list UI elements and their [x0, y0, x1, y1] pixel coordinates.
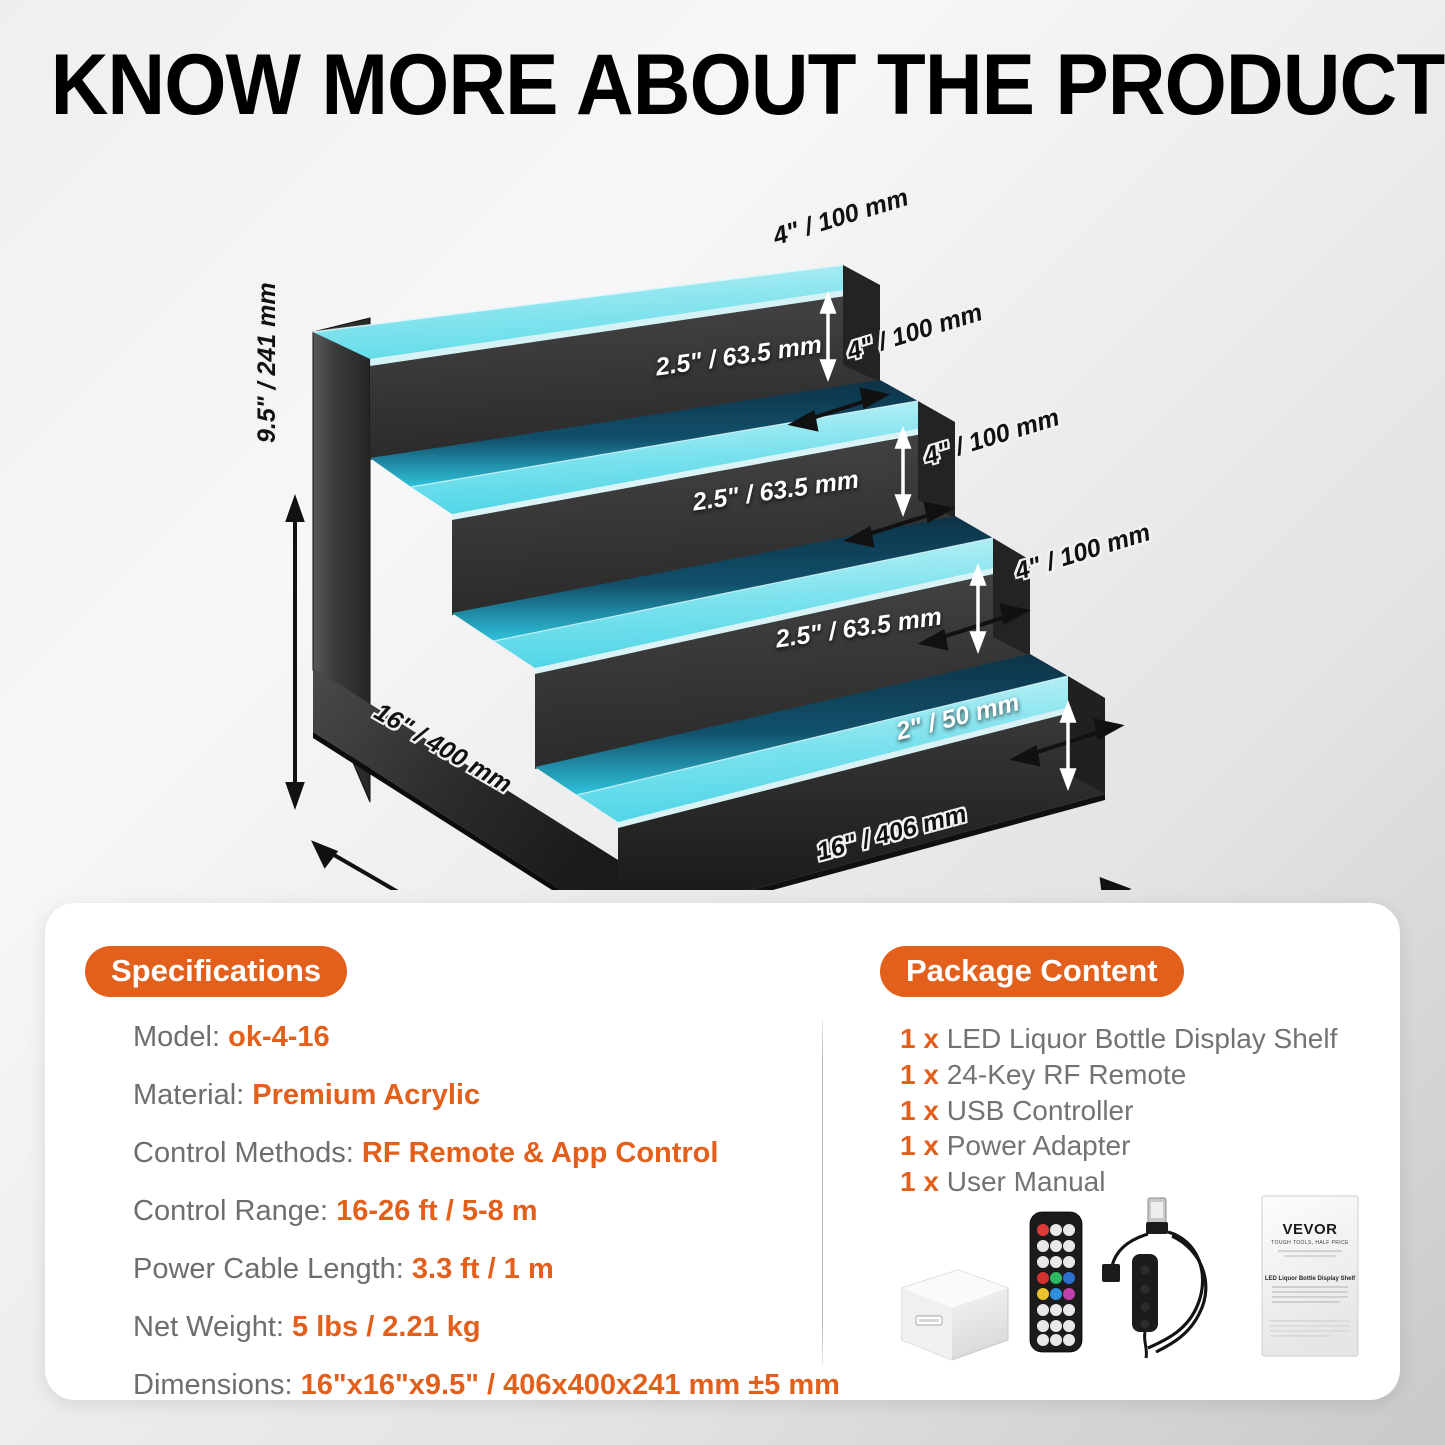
spec-value: Premium Acrylic [252, 1079, 480, 1111]
product-dimension-diagram: 9.5" / 241 mm 4" / 100 mm 4" / 100 mm 4"… [0, 160, 1445, 890]
spec-label: Power Cable Length: [133, 1253, 404, 1285]
spec-value: ok-4-16 [228, 1021, 330, 1053]
spec-row: Control Range: 16-26 ft / 5-8 m [133, 1197, 845, 1226]
accessory-photos: VEVOR TOUGH TOOLS, HALF PRICE LED Liquor… [880, 1188, 1380, 1368]
package-content-heading: Package Content [880, 946, 1184, 997]
info-card: Specifications Model: ok-4-16 Material: … [45, 903, 1400, 1400]
list-item: 1 x LED Liquor Bottle Display Shelf [900, 1021, 1370, 1057]
item-qty: 1 x [900, 1130, 939, 1161]
item-name: USB Controller [947, 1095, 1134, 1126]
spec-label: Control Methods: [133, 1137, 354, 1169]
spec-value: RF Remote & App Control [362, 1137, 719, 1169]
list-item: 1 x Power Adapter [900, 1128, 1370, 1164]
user-manual-photo: VEVOR TOUGH TOOLS, HALF PRICE LED Liquor… [1262, 1196, 1358, 1356]
spec-row: Dimensions: 16"x16"x9.5" / 406x400x241 m… [133, 1371, 845, 1400]
list-item: 1 x USB Controller [900, 1093, 1370, 1129]
spec-label: Dimensions: [133, 1369, 293, 1401]
package-content-panel: Package Content 1 x LED Liquor Bottle Di… [880, 946, 1370, 1200]
spec-value: 5 lbs / 2.21 kg [292, 1311, 481, 1343]
spec-row: Model: ok-4-16 [133, 1023, 845, 1052]
usb-controller-photo [1102, 1198, 1206, 1358]
spec-label: Net Weight: [133, 1311, 284, 1343]
panel-divider [822, 1020, 823, 1365]
spec-row: Control Methods: RF Remote & App Control [133, 1139, 845, 1168]
spec-value: 3.3 ft / 1 m [412, 1253, 554, 1285]
svg-text:VEVOR: VEVOR [1282, 1221, 1337, 1238]
item-name: LED Liquor Bottle Display Shelf [947, 1023, 1338, 1054]
item-qty: 1 x [900, 1095, 939, 1126]
spec-label: Material: [133, 1079, 244, 1111]
spec-label: Control Range: [133, 1195, 328, 1227]
package-content-list: 1 x LED Liquor Bottle Display Shelf 1 x … [880, 1021, 1370, 1200]
list-item: 1 x 24-Key RF Remote [900, 1057, 1370, 1093]
svg-text:LED Liquor Bottle Display Shel: LED Liquor Bottle Display Shelf [1265, 1276, 1356, 1282]
spec-row: Net Weight: 5 lbs / 2.21 kg [133, 1313, 845, 1342]
item-qty: 1 x [900, 1059, 939, 1090]
spec-value: 16-26 ft / 5-8 m [336, 1195, 537, 1227]
spec-row: Material: Premium Acrylic [133, 1081, 845, 1110]
item-name: Power Adapter [947, 1130, 1131, 1161]
item-name: 24-Key RF Remote [947, 1059, 1187, 1090]
specifications-list: Model: ok-4-16 Material: Premium Acrylic… [85, 1023, 845, 1400]
specifications-panel: Specifications Model: ok-4-16 Material: … [85, 946, 845, 1429]
spec-value: 16"x16"x9.5" / 406x400x241 mm ±5 mm [301, 1369, 840, 1401]
spec-row: Power Cable Length: 3.3 ft / 1 m [133, 1255, 845, 1284]
item-qty: 1 x [900, 1023, 939, 1054]
rf-remote-photo [1030, 1212, 1082, 1352]
shelf-illustration [0, 160, 1445, 890]
specifications-heading: Specifications [85, 946, 347, 997]
dim-label-total-height: 9.5" / 241 mm [255, 282, 280, 443]
power-adapter-photo [902, 1270, 1008, 1360]
spec-label: Model: [133, 1021, 220, 1053]
page-title: KNOW MORE ABOUT THE PRODUCT [51, 42, 1395, 128]
svg-text:TOUGH TOOLS, HALF PRICE: TOUGH TOOLS, HALF PRICE [1271, 1240, 1349, 1246]
